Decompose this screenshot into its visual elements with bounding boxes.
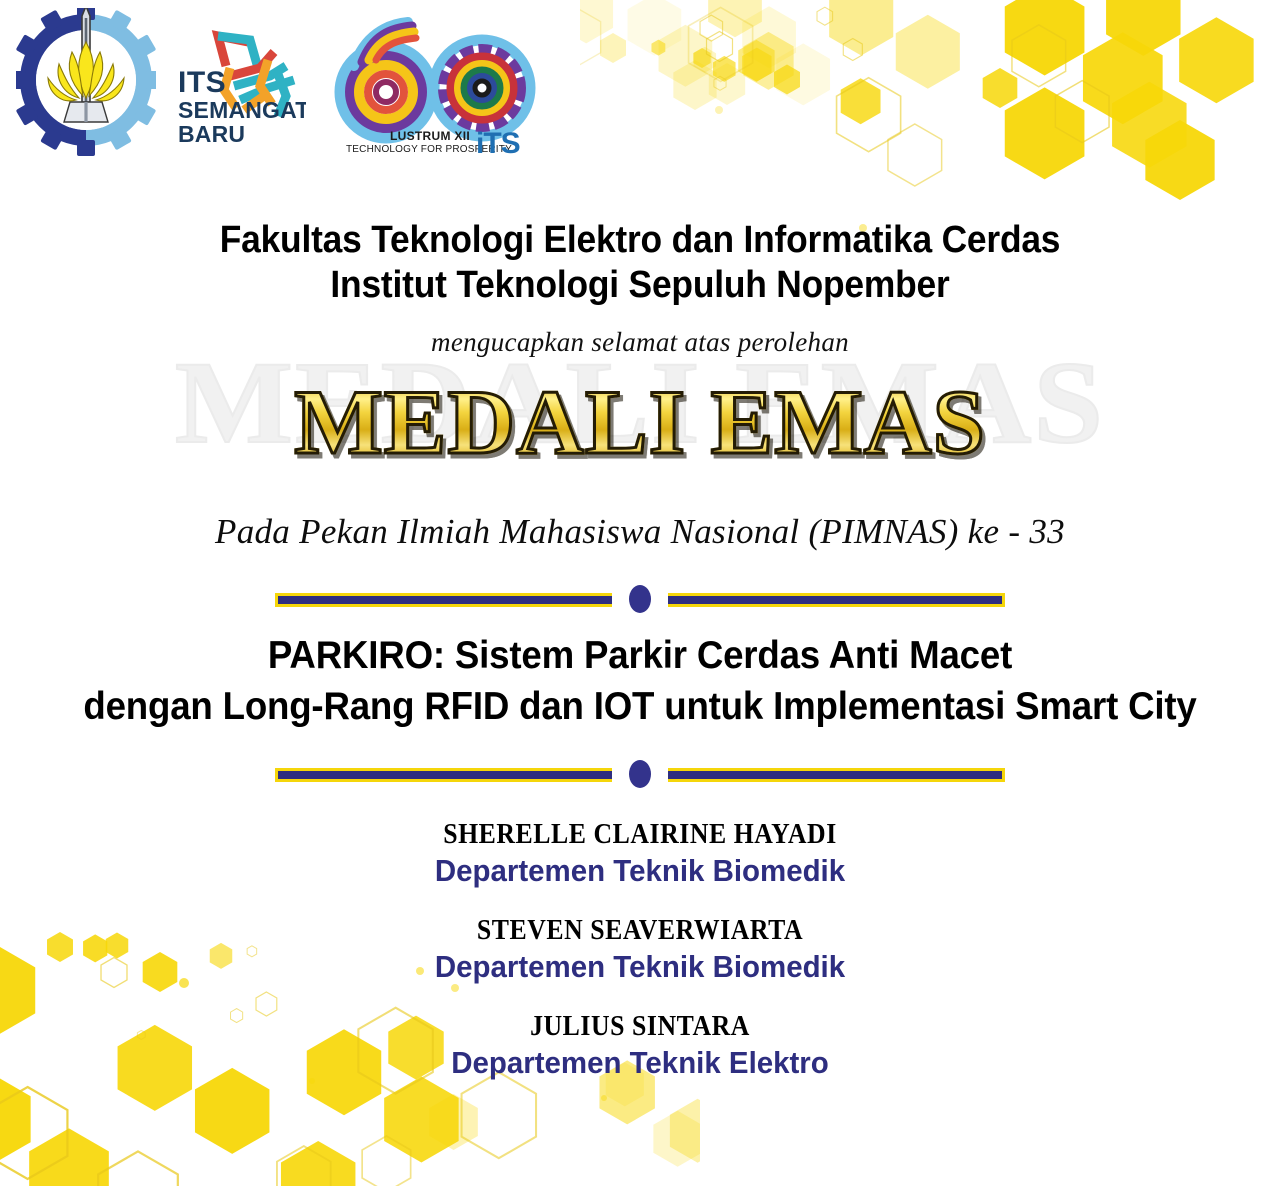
project-title-line-1: PARKIRO: Sistem Parkir Cerdas Anti Macet xyxy=(38,630,1241,681)
awardee-name: SHERELLE CLAIRINE HAYADI xyxy=(51,818,1229,852)
awardee-department: Departemen Teknik Biomedik xyxy=(32,948,1248,986)
awardee-item: JULIUS SINTARA Departemen Teknik Elektro xyxy=(0,1010,1280,1082)
divider-bar-right-2 xyxy=(668,768,1005,782)
faculty-heading: Fakultas Teknologi Elektro dan Informati… xyxy=(45,218,1235,308)
divider-bar-left-2 xyxy=(275,768,612,782)
its-semangat-baru-logo: ITS SEMANGAT BARU xyxy=(174,8,306,151)
poster-canvas: ITS SEMANGAT BARU xyxy=(0,0,1280,1186)
hexagon-pattern-top-right xyxy=(580,0,1280,250)
svg-text:LUSTRUM XII: LUSTRUM XII xyxy=(390,129,470,143)
svg-text:ITS: ITS xyxy=(178,66,226,99)
faculty-line-1: Fakultas Teknologi Elektro dan Informati… xyxy=(45,218,1235,263)
award-title: MEDALI EMAS xyxy=(0,374,1280,470)
divider-center-dot-2 xyxy=(629,760,651,788)
svg-text:iTS: iTS xyxy=(476,127,520,156)
event-line: Pada Pekan Ilmiah Mahasiswa Nasional (PI… xyxy=(0,512,1280,552)
awardee-item: STEVEN SEAVERWIARTA Departemen Teknik Bi… xyxy=(0,914,1280,986)
its-lustrum-60-logo: LUSTRUM XII TECHNOLOGY FOR PROSPERITY iT… xyxy=(324,8,554,161)
awardee-name: STEVEN SEAVERWIARTA xyxy=(51,914,1229,948)
divider-bar-right xyxy=(668,593,1005,607)
awardee-item: SHERELLE CLAIRINE HAYADI Departemen Tekn… xyxy=(0,818,1280,890)
divider-center-dot xyxy=(629,585,651,613)
awardee-department: Departemen Teknik Biomedik xyxy=(32,852,1248,890)
divider-bottom xyxy=(0,757,1280,787)
logo-row: ITS SEMANGAT BARU xyxy=(16,8,554,163)
award-title-block: MEDALI EMAS MEDALI EMAS xyxy=(0,362,1280,497)
awardee-name: JULIUS SINTARA xyxy=(51,1010,1229,1044)
project-title: PARKIRO: Sistem Parkir Cerdas Anti Macet… xyxy=(38,630,1241,732)
divider-bar-left xyxy=(275,593,612,607)
awardee-department: Departemen Teknik Elektro xyxy=(32,1044,1248,1082)
project-title-line-2: dengan Long-Rang RFID dan IOT untuk Impl… xyxy=(38,681,1241,732)
faculty-line-2: Institut Teknologi Sepuluh Nopember xyxy=(45,263,1235,308)
svg-text:BARU: BARU xyxy=(178,121,245,146)
its-crest-logo xyxy=(16,8,156,163)
svg-text:SEMANGAT: SEMANGAT xyxy=(178,97,306,123)
divider-top xyxy=(0,582,1280,612)
awardee-list: SHERELLE CLAIRINE HAYADI Departemen Tekn… xyxy=(0,818,1280,1106)
